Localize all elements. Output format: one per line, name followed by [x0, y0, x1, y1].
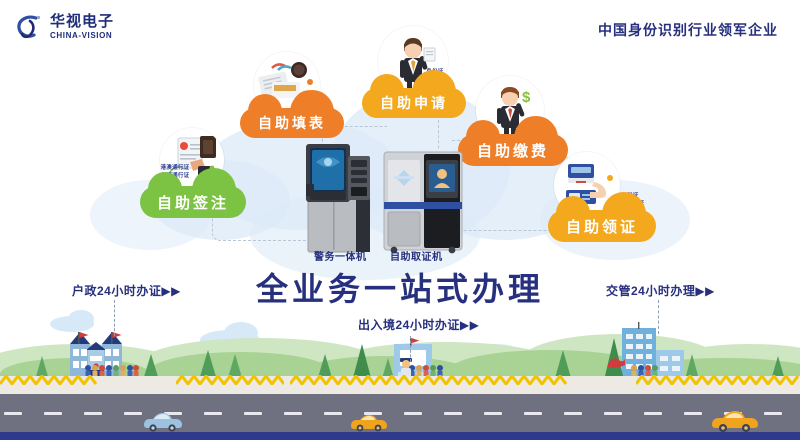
kiosk-label-self-service-collector: 自助取证机: [390, 248, 443, 263]
road-dash: [244, 412, 262, 415]
feature-label-self-collection[interactable]: 自助领证: [548, 210, 656, 242]
car-taxi: [708, 406, 760, 437]
header-tagline: 中国身份识别行业领军企业: [598, 20, 778, 40]
brand-logo: 华视电子 CHINA-VISION: [14, 12, 114, 42]
feature-label-self-endorsement[interactable]: 自助签注: [140, 186, 246, 218]
swirl-logo-icon: [14, 12, 44, 42]
caption-exit-entry: 出入境24小时办证▶▶: [358, 316, 479, 333]
road-dash: [764, 412, 782, 415]
road-dash: [324, 412, 342, 415]
road-dash: [44, 412, 62, 415]
feature-self-application[interactable]: 身份证 通行证 护照 台湾通行证 自助申请: [362, 26, 472, 126]
poster-canvas: 华视电子 CHINA-VISION 中国身份识别行业领军企业: [0, 0, 800, 440]
feature-label-self-application[interactable]: 自助申请: [362, 88, 466, 118]
caption-household-admin: 户政24小时办证▶▶: [72, 282, 181, 299]
road-dash: [84, 412, 102, 415]
road-dash: [644, 412, 662, 415]
road-dash: [604, 412, 622, 415]
road-dash: [444, 412, 462, 415]
feature-label-self-form-filling[interactable]: 自助填表: [240, 108, 344, 138]
guardrail: [176, 372, 284, 382]
feature-self-form-filling[interactable]: 自助填表: [240, 52, 350, 144]
subtag-line: 港澳通行证: [152, 164, 198, 172]
car-orange: [348, 410, 390, 437]
caption-dropline: [658, 300, 659, 334]
road-dash: [484, 412, 502, 415]
kiosk-police-all-in-one[interactable]: [300, 142, 374, 254]
guardrail: [290, 372, 570, 382]
logo-chinese-name: 华视电子: [50, 14, 114, 29]
road-dash: [684, 412, 702, 415]
road-dash: [524, 412, 542, 415]
road-curb: [0, 432, 800, 440]
feature-self-endorsement[interactable]: 港澳通行证 台湾通行证 自助签注: [140, 128, 250, 228]
road-dash: [204, 412, 222, 415]
road: [0, 394, 800, 432]
logo-english-name: CHINA-VISION: [50, 32, 114, 40]
caption-dropline: [114, 300, 115, 336]
car-blue: [140, 408, 184, 437]
kiosk-label-police-all-in-one: 警务一体机: [314, 248, 367, 263]
caption-dropline: [410, 336, 411, 362]
flag-icon: [608, 356, 626, 375]
car-taxi-secondary: [592, 408, 594, 426]
guardrail: [636, 372, 800, 382]
guardrail: [0, 372, 100, 382]
road-dash: [564, 412, 582, 415]
cloud-shape: [68, 310, 94, 328]
kiosk-group: [300, 142, 470, 260]
road-dash: [404, 412, 422, 415]
kiosk-self-service-collector[interactable]: [382, 150, 464, 254]
road-dash: [284, 412, 302, 415]
caption-traffic-admin: 交管24小时办理▶▶: [606, 282, 715, 299]
feature-self-collection[interactable]: 身份证 台湾通行证 港澳通行证 自助领证: [540, 152, 658, 252]
svg-text:$: $: [522, 89, 531, 106]
road-dash: [4, 412, 22, 415]
